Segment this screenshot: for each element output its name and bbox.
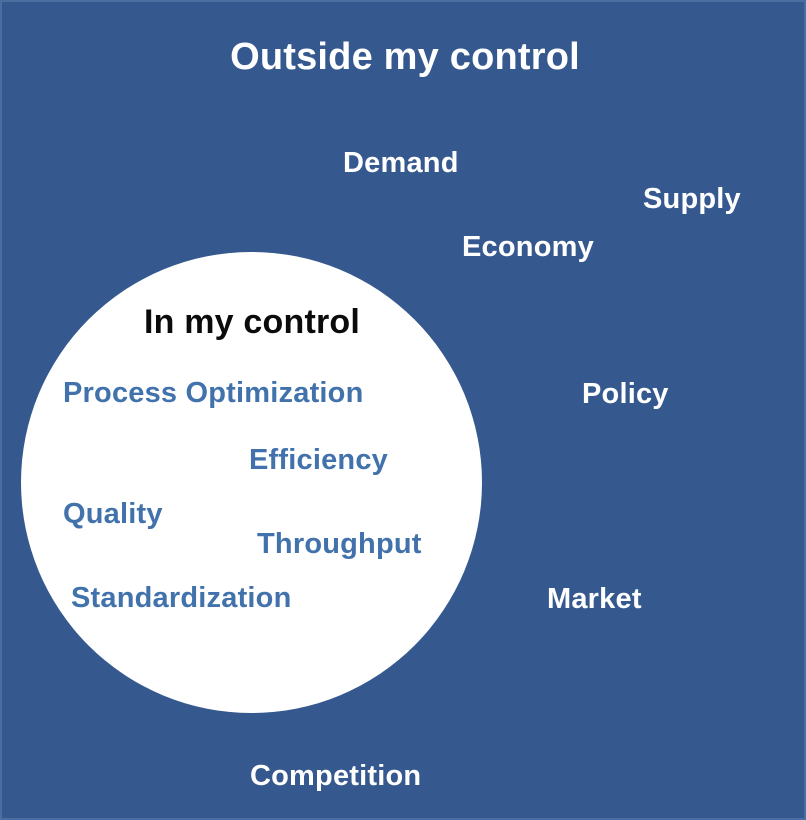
inner-factor-throughput: Throughput [257, 530, 422, 559]
outer-factor-demand: Demand [343, 149, 459, 178]
inner-factor-process-optimization: Process Optimization [63, 379, 364, 408]
inner-factor-quality: Quality [63, 500, 163, 529]
outer-factor-economy: Economy [462, 233, 594, 262]
outer-factor-competition: Competition [250, 762, 421, 791]
inner-factor-standardization: Standardization [71, 584, 292, 613]
outer-factor-supply: Supply [643, 185, 741, 214]
inner-factor-efficiency: Efficiency [249, 446, 388, 475]
sphere-of-control-diagram: Outside my control In my control DemandS… [0, 0, 806, 820]
outer-zone-title: Outside my control [2, 38, 806, 76]
outer-factor-market: Market [547, 585, 642, 614]
inner-zone-title: In my control [2, 305, 502, 339]
outer-factor-policy: Policy [582, 380, 669, 409]
